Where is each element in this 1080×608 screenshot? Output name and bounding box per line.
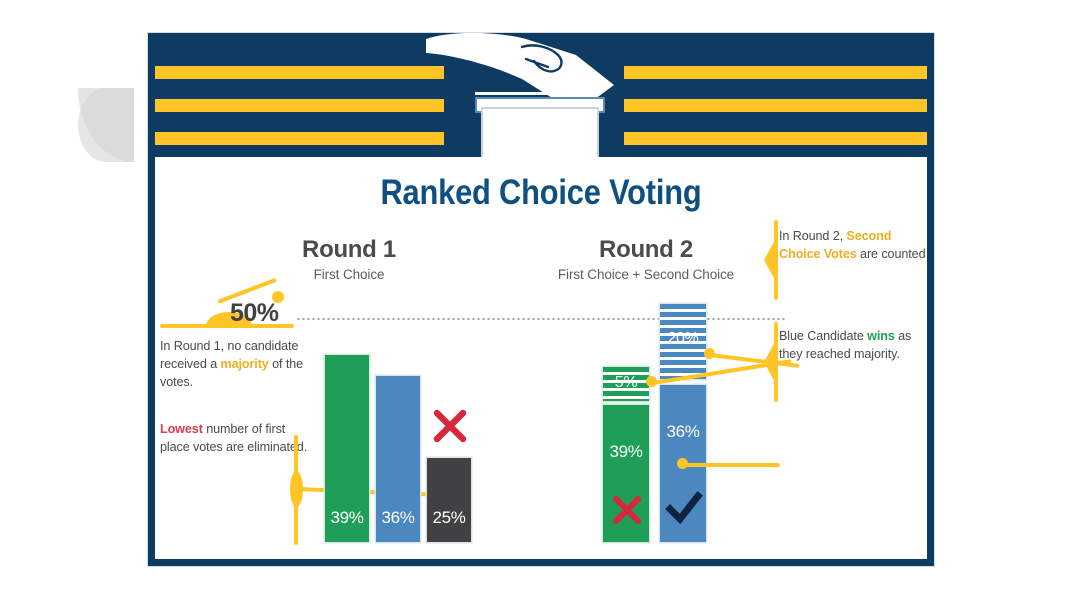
infographic-card: Ranked Choice Voting Round 1 First Choic… <box>148 33 934 566</box>
round1-bar-blue: 36% <box>376 376 420 542</box>
header-stripe-left-3 <box>148 132 444 145</box>
ballot-slot-top <box>475 92 601 95</box>
round2-blue-second-choice-segment: 20% <box>660 304 706 379</box>
round2-blue-wins-check-icon <box>666 491 702 525</box>
round2-green-second-choice-label: 5% <box>603 374 649 392</box>
annotation-left-2: Lowest number of first place votes are e… <box>160 421 310 457</box>
frame-border-bottom <box>148 559 934 566</box>
round-1-heading: Round 1 First Choice <box>249 236 449 282</box>
header-banner <box>148 33 934 157</box>
annotation-right-2-part-0: Blue Candidate <box>779 329 867 343</box>
annotation-right-1-part-0: In Round 2, <box>779 229 846 243</box>
leader-line-blue-wins <box>685 463 780 467</box>
page-title: Ranked Choice Voting <box>195 173 887 213</box>
round-1-subtitle: First Choice <box>249 267 449 282</box>
annotation-left-2-part-0: Lowest <box>160 422 203 436</box>
round2-green-second-choice-segment: 5% <box>603 367 649 401</box>
annotation-left-1-part-1: majority <box>221 357 269 371</box>
round-2-subtitle: First Choice + Second Choice <box>431 267 861 282</box>
round2-bar-blue-label: 36% <box>660 422 706 442</box>
round1-bar-green-label: 39% <box>325 508 369 528</box>
round1-bar-blue-label: 36% <box>376 508 420 528</box>
round1-bar-gray-label: 25% <box>427 508 471 528</box>
round1-bar-gray: 25% <box>427 458 471 542</box>
infographic-canvas: Ranked Choice Voting Round 1 First Choic… <box>0 0 1080 608</box>
annotation-right-1: In Round 2, Second Choice Votes are coun… <box>779 228 929 264</box>
annotation-right-2: Blue Candidate wins as they reached majo… <box>779 328 929 364</box>
header-stripe-right-2 <box>624 99 934 112</box>
header-stripe-right-3 <box>624 132 934 145</box>
annotation-right-1-part-2: are counted <box>857 247 926 261</box>
header-stripe-right-1 <box>624 66 934 79</box>
round2-bar-green-label: 39% <box>603 442 649 462</box>
right-bracket-2-arrow <box>764 340 776 384</box>
frame-border-left <box>148 33 155 566</box>
threshold-label: 50% <box>230 299 279 328</box>
round1-bar-green: 39% <box>325 355 369 542</box>
header-stripe-left-1 <box>148 66 444 79</box>
round2-green-loses-x-icon <box>611 494 643 526</box>
annotation-left-1: In Round 1, no candidate received a majo… <box>160 338 310 392</box>
leader-dot-blue-second-choice <box>704 348 715 359</box>
leader-dot-green-second-choice <box>646 376 657 387</box>
round1-eliminated-x-icon <box>431 407 469 445</box>
annotation-right-2-part-1: wins <box>867 329 895 343</box>
round-1-title: Round 1 <box>249 236 449 264</box>
frame-border-right <box>927 33 934 566</box>
leader-dot-blue-wins <box>677 458 688 469</box>
right-bracket-1-arrow <box>764 238 776 282</box>
header-stripe-left-2 <box>148 99 444 112</box>
round2-blue-second-choice-label: 20% <box>660 330 706 348</box>
majority-dotted-line <box>296 318 786 320</box>
ballot-box <box>481 107 599 157</box>
